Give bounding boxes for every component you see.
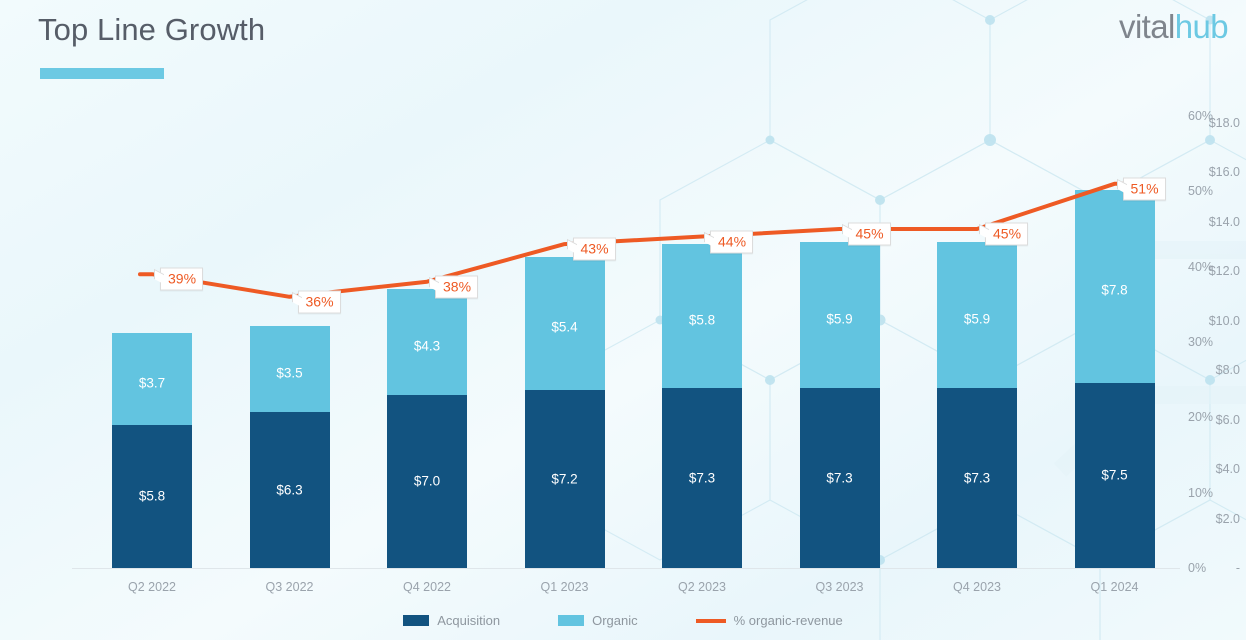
legend-item[interactable]: Acquisition (403, 613, 500, 628)
bar-segment-acquisition[interactable] (250, 412, 330, 568)
x-axis-tick-label: Q3 2023 (816, 580, 864, 594)
y-axis-left-tick: $6.0 (1216, 413, 1240, 427)
bar-column[interactable] (662, 244, 742, 568)
y-axis-right-tick: 30% (1188, 335, 1213, 349)
legend-line-icon (696, 619, 726, 623)
stacked-bar-chart: -$2.0$4.0$6.0$8.0$10.0$12.0$14.0$16.0$18… (0, 0, 1246, 640)
legend-label: Organic (592, 613, 638, 628)
bar-column[interactable] (937, 242, 1017, 568)
bar-segment-organic[interactable] (937, 242, 1017, 388)
y-axis-right-tick: 20% (1188, 410, 1213, 424)
bar-segment-acquisition[interactable] (112, 425, 192, 568)
y-axis-right-tick: 10% (1188, 486, 1213, 500)
legend-item[interactable]: % organic-revenue (696, 613, 843, 628)
slide-canvas: Top Line Growth vitalhub -$2.0$4.0$6.0$8… (0, 0, 1246, 640)
bar-segment-organic[interactable] (250, 326, 330, 413)
percent-callout: 43% (573, 238, 616, 261)
x-axis-tick-label: Q1 2024 (1091, 580, 1139, 594)
bar-segment-organic[interactable] (800, 242, 880, 388)
legend-item[interactable]: Organic (558, 613, 638, 628)
y-axis-left-tick: $18.0 (1209, 116, 1240, 130)
bar-segment-organic[interactable] (1075, 190, 1155, 383)
y-axis-left-tick: $14.0 (1209, 215, 1240, 229)
legend-swatch-icon (403, 615, 429, 626)
bar-column[interactable] (800, 242, 880, 568)
bar-segment-acquisition[interactable] (937, 388, 1017, 568)
y-axis-left-tick: $2.0 (1216, 512, 1240, 526)
x-axis-tick-label: Q4 2022 (403, 580, 451, 594)
percent-callout: 51% (1123, 177, 1166, 200)
bar-segment-acquisition[interactable] (525, 390, 605, 568)
bar-segment-organic[interactable] (662, 244, 742, 387)
y-axis-left-tick: $16.0 (1209, 165, 1240, 179)
legend-swatch-icon (558, 615, 584, 626)
percent-callout: 39% (160, 268, 203, 291)
bar-column[interactable] (525, 257, 605, 569)
bar-segment-organic[interactable] (387, 289, 467, 395)
axis-baseline (72, 568, 1180, 569)
bar-column[interactable] (250, 326, 330, 568)
bar-column[interactable] (112, 333, 192, 568)
bar-segment-acquisition[interactable] (1075, 383, 1155, 568)
y-axis-left-tick: $4.0 (1216, 462, 1240, 476)
legend-label: Acquisition (437, 613, 500, 628)
y-axis-right-tick: 60% (1188, 109, 1213, 123)
bar-segment-organic[interactable] (112, 333, 192, 424)
percent-callout: 44% (710, 230, 753, 253)
bar-column[interactable] (1075, 190, 1155, 568)
y-axis-left-tick: - (1236, 561, 1240, 575)
y-axis-right-tick: 40% (1188, 260, 1213, 274)
y-axis-left-tick: $8.0 (1216, 363, 1240, 377)
percent-callout: 36% (298, 290, 341, 313)
y-axis-left-tick: $10.0 (1209, 314, 1240, 328)
bar-segment-organic[interactable] (525, 257, 605, 391)
percent-callout: 38% (435, 275, 478, 298)
x-axis-tick-label: Q1 2023 (541, 580, 589, 594)
x-axis-tick-label: Q4 2023 (953, 580, 1001, 594)
x-axis-tick-label: Q3 2022 (266, 580, 314, 594)
chart-legend: AcquisitionOrganic% organic-revenue (0, 613, 1246, 628)
x-axis-tick-label: Q2 2023 (678, 580, 726, 594)
percent-callout: 45% (848, 223, 891, 246)
y-axis-left-tick: $12.0 (1209, 264, 1240, 278)
x-axis-tick-label: Q2 2022 (128, 580, 176, 594)
bar-segment-acquisition[interactable] (800, 388, 880, 568)
y-axis-right-tick: 0% (1188, 561, 1206, 575)
percent-callout: 45% (985, 223, 1028, 246)
bar-segment-acquisition[interactable] (662, 388, 742, 568)
legend-label: % organic-revenue (734, 613, 843, 628)
bar-segment-acquisition[interactable] (387, 395, 467, 568)
bar-column[interactable] (387, 289, 467, 568)
y-axis-right-tick: 50% (1188, 184, 1213, 198)
